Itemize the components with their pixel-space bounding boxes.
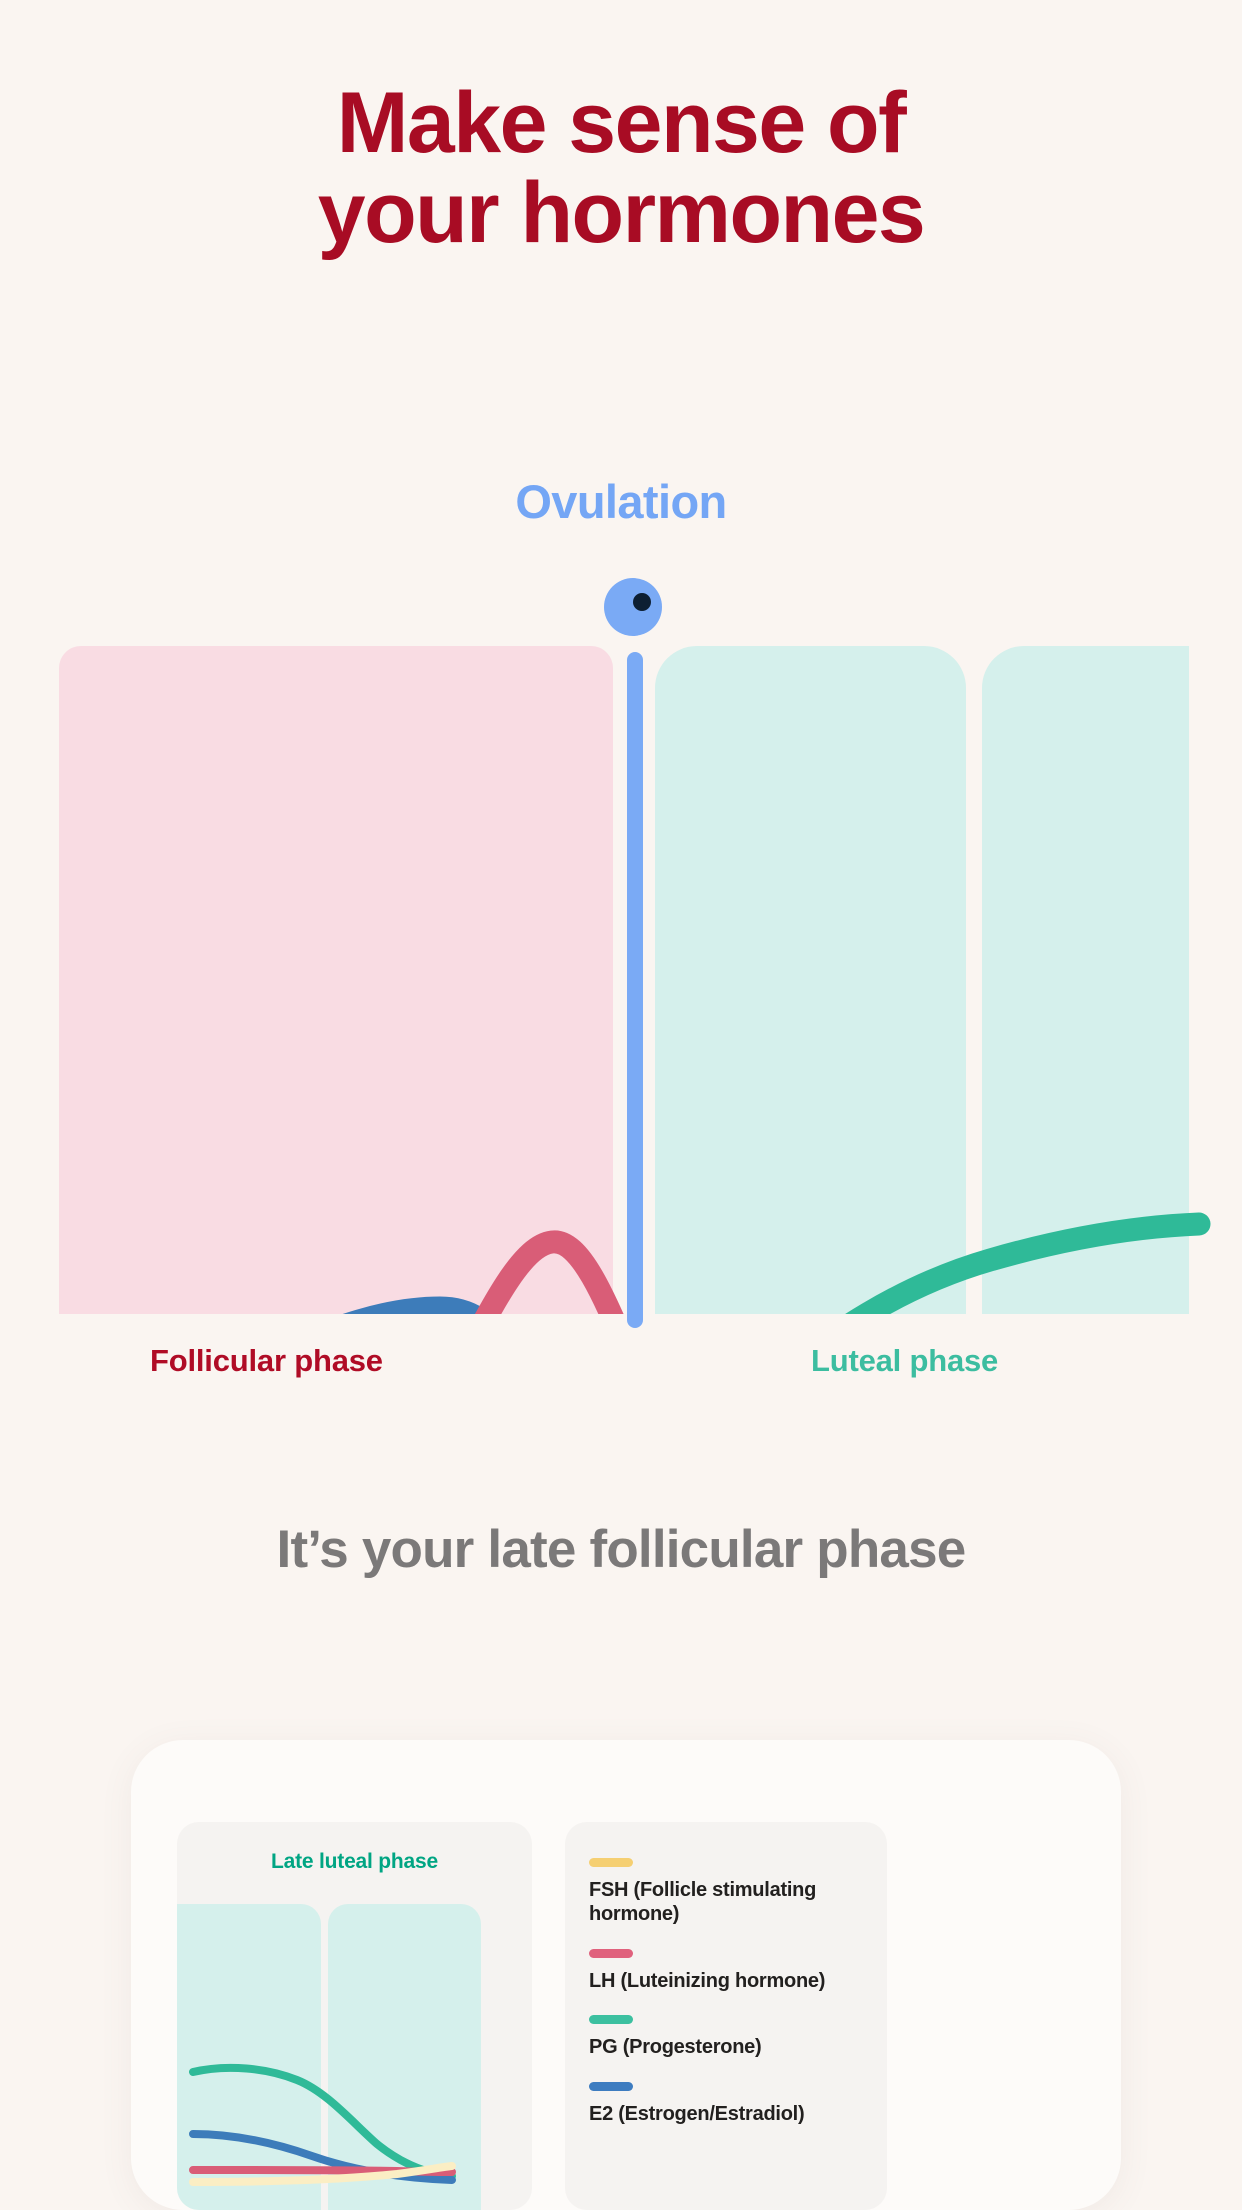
label-follicular-phase: Follicular phase	[150, 1343, 383, 1379]
hormone-curves	[0, 646, 1242, 1314]
hormone-cycle-chart	[0, 646, 1242, 1314]
curve-pg	[44, 1224, 1199, 1314]
page-title-line-2: your hormones	[0, 168, 1242, 258]
mini-chart-panel: Late luteal phase	[177, 1822, 532, 2210]
page-title-line-1: Make sense of	[337, 75, 905, 171]
legend-swatch-lh	[589, 1949, 633, 1958]
legend-label-pg: PG (Progesterone)	[589, 2035, 869, 2059]
hormone-legend: FSH (Follicle stimulating hormone) LH (L…	[589, 1858, 869, 2126]
legend-item-e2: E2 (Estrogen/Estradiol)	[589, 2082, 869, 2126]
ovulation-marker-dot	[633, 593, 651, 611]
current-phase-headline: It’s your late follicular phase	[0, 1519, 1242, 1580]
legend-item-fsh: FSH (Follicle stimulating hormone)	[589, 1858, 869, 1927]
label-luteal-phase: Luteal phase	[811, 1343, 998, 1379]
hormone-detail-card: Late luteal phase FSH (Follicle stimulat…	[131, 1740, 1121, 2210]
legend-item-lh: LH (Luteinizing hormone)	[589, 1949, 869, 1993]
ovulation-indicator-line	[627, 652, 643, 1328]
legend-panel: FSH (Follicle stimulating hormone) LH (L…	[565, 1822, 887, 2210]
legend-swatch-e2	[589, 2082, 633, 2091]
ovulation-marker-icon	[604, 578, 662, 636]
legend-swatch-pg	[589, 2015, 633, 2024]
legend-label-lh: LH (Luteinizing hormone)	[589, 1969, 869, 1993]
page-title: Make sense of your hormones	[0, 78, 1242, 259]
legend-swatch-fsh	[589, 1858, 633, 1867]
legend-label-fsh: FSH (Follicle stimulating hormone)	[589, 1878, 869, 1927]
hormone-education-screen: Make sense of your hormones Ovulation Fo…	[0, 0, 1242, 2208]
ovulation-label: Ovulation	[0, 474, 1242, 529]
mini-hormone-curves	[177, 1822, 532, 2210]
legend-item-pg: PG (Progesterone)	[589, 2015, 869, 2059]
legend-label-e2: E2 (Estrogen/Estradiol)	[589, 2102, 869, 2126]
